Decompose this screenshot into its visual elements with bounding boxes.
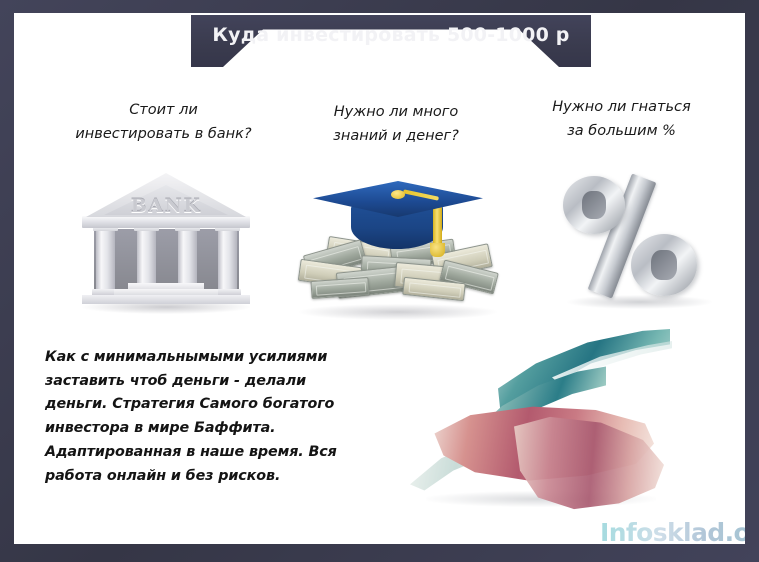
bank-entablature bbox=[82, 216, 250, 228]
bank-column bbox=[96, 229, 115, 291]
graduation-cap-board bbox=[313, 181, 483, 217]
heading-bank: Стоит лиинвестировать в банк? bbox=[56, 99, 271, 147]
percent-shadow bbox=[567, 295, 712, 309]
bank-column bbox=[178, 229, 197, 291]
heading-education: Нужно ли многознаний и денег? bbox=[296, 101, 496, 149]
bank-column bbox=[137, 229, 156, 291]
bank-building-icon: BANK bbox=[76, 171, 256, 316]
heading-percent: Нужно ли гнатьсяза большим % bbox=[519, 96, 724, 144]
percent-ring-upper bbox=[563, 176, 625, 234]
bank-sign-text: BANK bbox=[76, 195, 256, 217]
money-shadow bbox=[299, 304, 497, 320]
watermark-logo-text: Infosklad.org bbox=[600, 518, 745, 544]
graduation-cap-on-money-icon bbox=[291, 165, 506, 320]
body-paragraph: Как с минимальнымыми усилиями заставить … bbox=[45, 346, 355, 488]
ruble-banknotes-icon bbox=[402, 319, 692, 519]
bank-column bbox=[218, 229, 237, 291]
bank-base bbox=[82, 295, 250, 304]
page-title: Куда инвестировать 500-1000 р bbox=[191, 15, 591, 55]
graduation-cap-button bbox=[391, 190, 405, 199]
slide-frame: Куда инвестировать 500-1000 р Стоит лиин… bbox=[0, 0, 759, 562]
slide-canvas: Куда инвестировать 500-1000 р Стоит лиин… bbox=[14, 13, 745, 544]
percent-ring-lower bbox=[631, 234, 697, 296]
graduation-cap-tassel-tip bbox=[430, 243, 445, 257]
percent-sign-icon bbox=[557, 168, 722, 313]
watermark: Infosklad.org Склад бесплатных информаци… bbox=[600, 518, 745, 544]
